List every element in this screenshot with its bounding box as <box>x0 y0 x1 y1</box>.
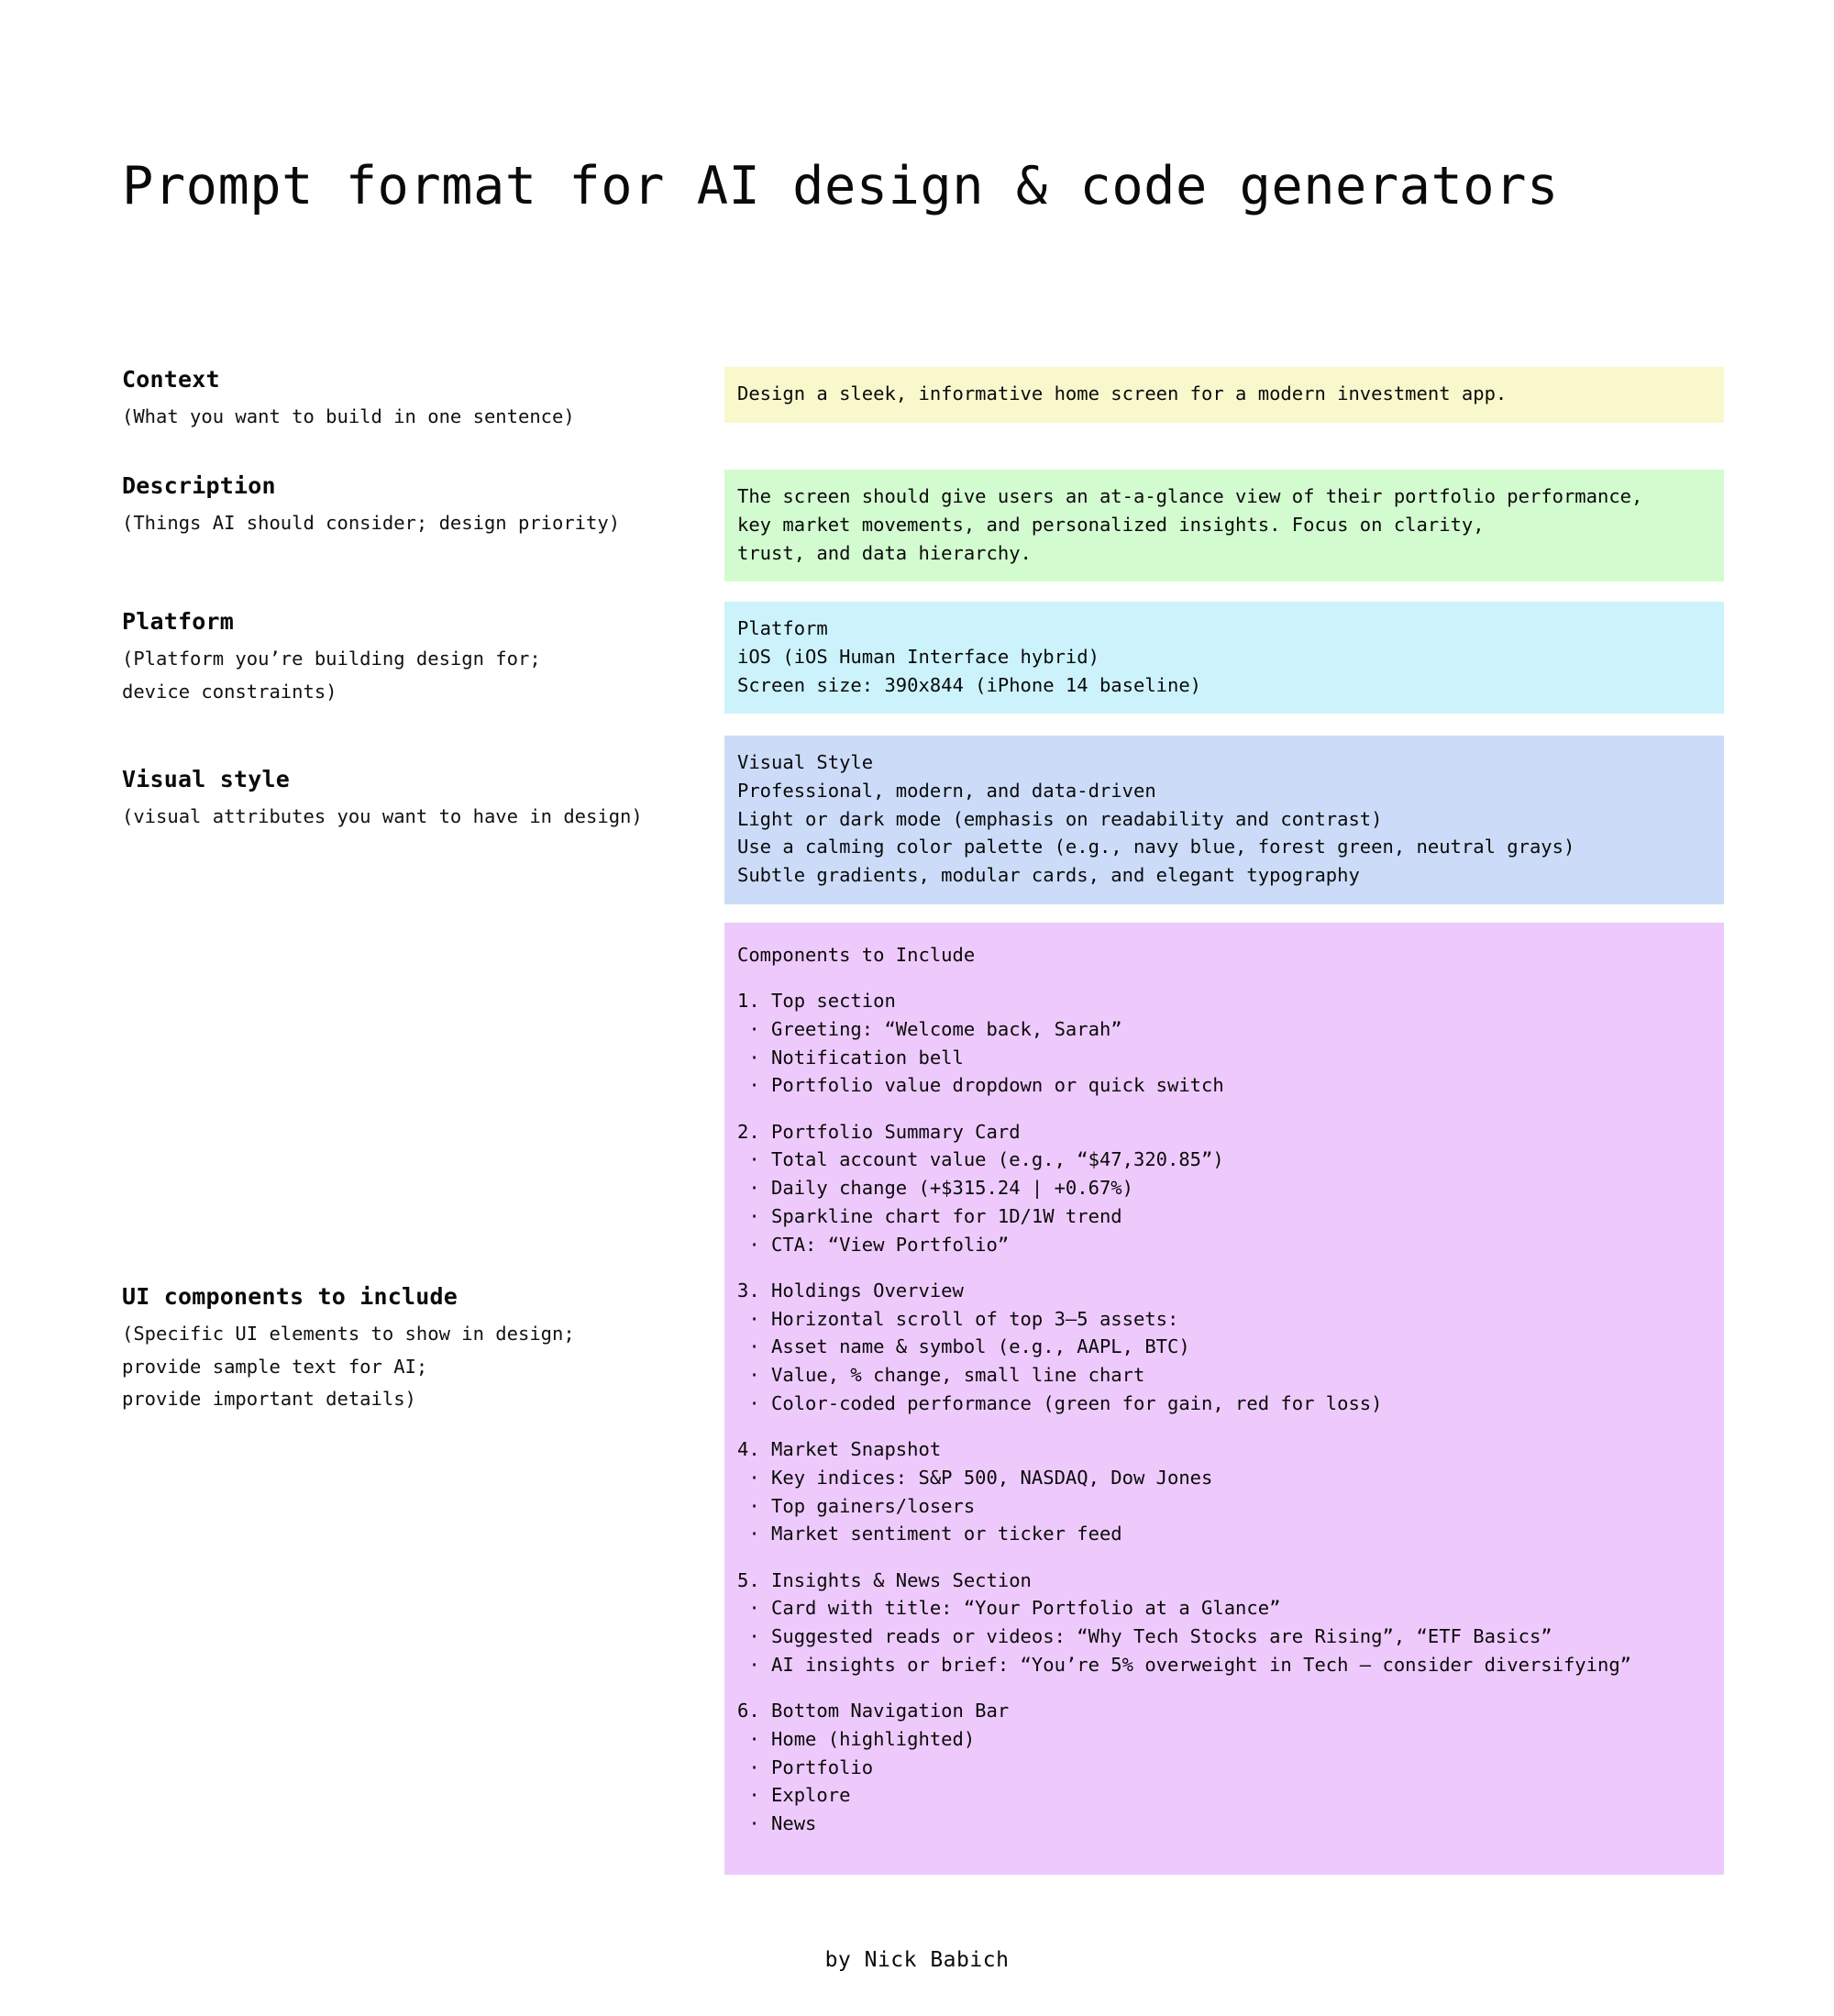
component-bullet-item: · Card with title: “Your Portfolio at a … <box>737 1594 1711 1623</box>
visual-style-content-line: Visual Style <box>737 748 1711 777</box>
component-group-heading: 4. Market Snapshot <box>737 1435 1711 1464</box>
component-bullet-item: · Horizontal scroll of top 3–5 assets: <box>737 1305 1711 1334</box>
component-bullet-item: · CTA: “View Portfolio” <box>737 1231 1711 1259</box>
context-label-group: Context (What you want to build in one s… <box>122 365 709 434</box>
description-label-group: Description (Things AI should consider; … <box>122 471 709 540</box>
component-group-heading: 2. Portfolio Summary Card <box>737 1118 1711 1146</box>
component-bullet-item: · Sparkline chart for 1D/1W trend <box>737 1202 1711 1231</box>
visual-style-hint-line: (visual attributes you want to have in d… <box>122 801 709 833</box>
group-spacer <box>737 1258 1711 1276</box>
component-bullet-item: · Greeting: “Welcome back, Sarah” <box>737 1015 1711 1044</box>
component-bullet-item: · Suggested reads or videos: “Why Tech S… <box>737 1623 1711 1651</box>
ui-components-hint: (Specific UI elements to show in design;… <box>122 1318 709 1415</box>
ui-components-hint-line: provide sample text for AI; <box>122 1351 709 1383</box>
context-hint: (What you want to build in one sentence) <box>122 401 709 433</box>
component-bullet-item: · AI insights or brief: “You’re 5% overw… <box>737 1651 1711 1679</box>
ui-components-content-box: Components to Include 1. Top section · G… <box>724 923 1724 1875</box>
description-content-box: The screen should give users an at-a-gla… <box>724 470 1724 582</box>
group-spacer <box>737 1548 1711 1566</box>
component-bullet-item: · Top gainers/losers <box>737 1492 1711 1521</box>
visual-style-label-group: Visual style (visual attributes you want… <box>122 765 709 834</box>
visual-style-content-line: Professional, modern, and data-driven <box>737 777 1711 805</box>
components-groups: 1. Top section · Greeting: “Welcome back… <box>737 969 1711 1838</box>
group-spacer <box>737 1100 1711 1117</box>
component-bullet-item: · Asset name & symbol (e.g., AAPL, BTC) <box>737 1333 1711 1361</box>
ui-components-label-group: UI components to include (Specific UI el… <box>122 1282 709 1415</box>
context-hint-line: (What you want to build in one sentence) <box>122 401 709 433</box>
context-content-box: Design a sleek, informative home screen … <box>724 367 1724 423</box>
component-bullet-item: · Key indices: S&P 500, NASDAQ, Dow Jone… <box>737 1464 1711 1492</box>
component-group-heading: 3. Holdings Overview <box>737 1277 1711 1305</box>
page-title: Prompt format for AI design & code gener… <box>122 157 1559 217</box>
ui-components-label: UI components to include <box>122 1282 709 1311</box>
ui-components-hint-line: provide important details) <box>122 1383 709 1415</box>
footer-attribution: by Nick Babich <box>0 1948 1834 1972</box>
platform-content-line: Platform <box>737 615 1711 643</box>
group-spacer <box>737 969 1711 987</box>
group-spacer <box>737 1418 1711 1435</box>
description-label: Description <box>122 471 709 500</box>
component-bullet-item: · Explore <box>737 1781 1711 1810</box>
platform-label: Platform <box>122 607 709 636</box>
component-bullet-item: · Market sentiment or ticker feed <box>737 1520 1711 1548</box>
component-bullet-item: · Notification bell <box>737 1044 1711 1072</box>
description-content-line: The screen should give users an at-a-gla… <box>737 482 1711 511</box>
component-bullet-item: · Value, % change, small line chart <box>737 1361 1711 1390</box>
component-bullet-item: · Home (highlighted) <box>737 1725 1711 1754</box>
visual-style-label: Visual style <box>122 765 709 793</box>
visual-style-content-line: Use a calming color palette (e.g., navy … <box>737 833 1711 861</box>
description-content-line: key market movements, and personalized i… <box>737 511 1711 539</box>
platform-content-line: iOS (iOS Human Interface hybrid) <box>737 643 1711 671</box>
description-hint-line: (Things AI should consider; design prior… <box>122 507 709 539</box>
visual-style-content-line: Light or dark mode (emphasis on readabil… <box>737 805 1711 834</box>
context-content-line: Design a sleek, informative home screen … <box>737 380 1711 408</box>
component-bullet-item: · Portfolio value dropdown or quick swit… <box>737 1071 1711 1100</box>
component-bullet-item: · News <box>737 1810 1711 1838</box>
component-bullet-item: · Portfolio <box>737 1754 1711 1782</box>
component-group-heading: 6. Bottom Navigation Bar <box>737 1697 1711 1725</box>
platform-hint-line: device constraints) <box>122 676 709 708</box>
description-hint: (Things AI should consider; design prior… <box>122 507 709 539</box>
visual-style-content-line: Subtle gradients, modular cards, and ele… <box>737 861 1711 890</box>
visual-style-hint: (visual attributes you want to have in d… <box>122 801 709 833</box>
component-bullet-item: · Total account value (e.g., “$47,320.85… <box>737 1146 1711 1174</box>
ui-components-hint-line: (Specific UI elements to show in design; <box>122 1318 709 1350</box>
component-group-heading: 1. Top section <box>737 987 1711 1015</box>
visual-style-content-box: Visual Style Professional, modern, and d… <box>724 736 1724 904</box>
component-bullet-item: · Daily change (+$315.24 | +0.67%) <box>737 1174 1711 1202</box>
platform-hint-line: (Platform you’re building design for; <box>122 643 709 675</box>
platform-content-box: Platform iOS (iOS Human Interface hybrid… <box>724 602 1724 714</box>
platform-content-line: Screen size: 390x844 (iPhone 14 baseline… <box>737 671 1711 700</box>
group-spacer <box>737 1679 1711 1697</box>
component-bullet-item: · Color-coded performance (green for gai… <box>737 1390 1711 1418</box>
components-heading: Components to Include <box>737 941 1711 969</box>
component-group-heading: 5. Insights & News Section <box>737 1567 1711 1595</box>
platform-label-group: Platform (Platform you’re building desig… <box>122 607 709 708</box>
platform-hint: (Platform you’re building design for; de… <box>122 643 709 708</box>
description-content-line: trust, and data hierarchy. <box>737 539 1711 568</box>
context-label: Context <box>122 365 709 393</box>
